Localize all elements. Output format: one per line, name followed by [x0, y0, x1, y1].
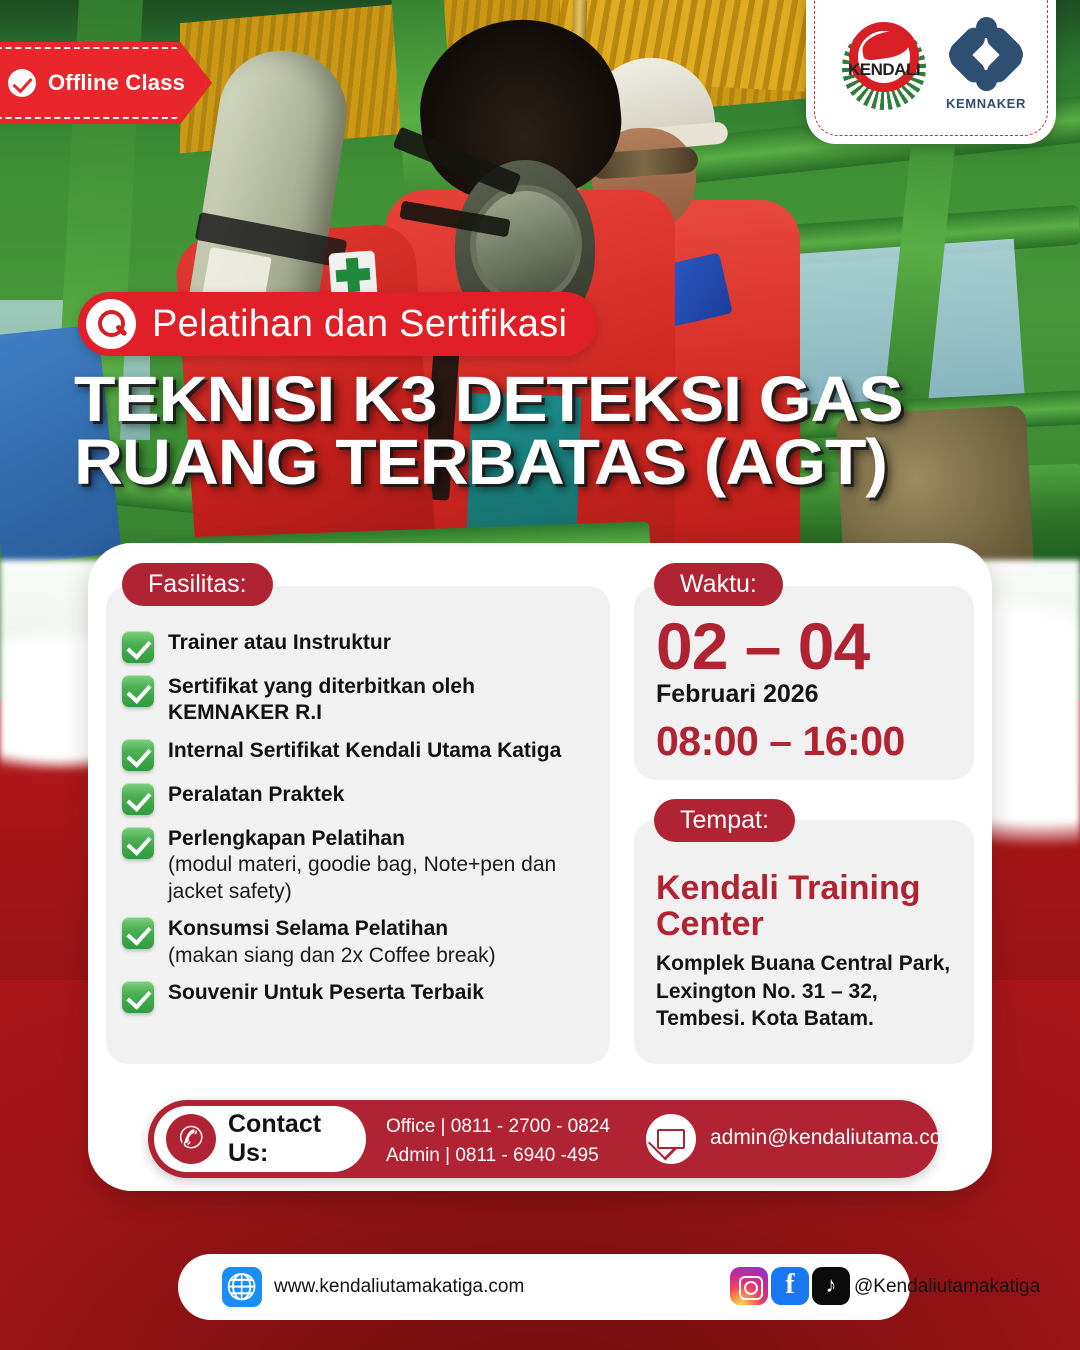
logo-card: KENDALI KEMNAKER	[806, 0, 1056, 144]
facility-item-text: Sertifikat yang diterbitkan oleh KEMNAKE…	[168, 674, 602, 727]
facility-item-text: Trainer atau Instruktur	[168, 630, 391, 656]
facility-item: Internal Sertifikat Kendali Utama Katiga	[122, 738, 602, 771]
tiktok-icon[interactable]	[812, 1267, 850, 1305]
facility-item-detail: (modul materi, goodie bag, Note+pen dan …	[168, 853, 556, 902]
kendali-logo: KENDALI	[836, 16, 932, 112]
envelope-icon	[646, 1114, 696, 1164]
facility-item-detail: (makan siang dan 2x Coffee break)	[168, 944, 496, 967]
venue-address: Komplek Buana Central Park, Lexington No…	[656, 950, 968, 1033]
facility-item: Peralatan Praktek	[122, 782, 602, 815]
checkbox-check-icon	[122, 827, 154, 859]
schedule-date-range: 02 – 04	[656, 608, 869, 684]
checkbox-check-icon	[122, 739, 154, 771]
checkbox-check-icon	[122, 631, 154, 663]
footer-bar: www.kendaliutamakatiga.com @Kendaliutama…	[178, 1254, 910, 1320]
social-icon-group	[730, 1267, 850, 1305]
checkbox-check-icon	[122, 675, 154, 707]
page-title: TEKNISI K3 DETEKSI GAS RUANG TERBATAS (A…	[74, 368, 1060, 493]
venue-badge: Tempat:	[654, 799, 795, 842]
facility-item-title: Internal Sertifikat Kendali Utama Katiga	[168, 739, 561, 762]
facebook-icon[interactable]	[771, 1267, 809, 1305]
facility-item-title: Souvenir Untuk Peserta Terbaik	[168, 981, 484, 1004]
schedule-time-range: 08:00 – 16:00	[656, 718, 905, 765]
scba-mask-lens	[470, 185, 582, 305]
contact-phone-numbers: Office | 0811 - 2700 - 0824 Admin | 0811…	[386, 1112, 610, 1171]
checkbox-check-icon	[122, 783, 154, 815]
facilities-list: Trainer atau InstrukturSertifikat yang d…	[122, 630, 602, 1024]
facility-item-title: Perlengkapan Pelatihan	[168, 827, 405, 850]
contact-bar: Contact Us: Office | 0811 - 2700 - 0824 …	[148, 1100, 938, 1178]
facility-item-title: Peralatan Praktek	[168, 783, 344, 806]
checkbox-check-icon	[122, 981, 154, 1013]
offline-class-badge: Offline Class	[0, 42, 212, 124]
facility-item-text: Internal Sertifikat Kendali Utama Katiga	[168, 738, 561, 764]
eyebrow-label: Pelatihan dan Sertifikasi	[152, 303, 567, 346]
instagram-icon[interactable]	[730, 1267, 768, 1305]
contact-us-pill: Contact Us:	[154, 1106, 366, 1172]
checkbox-check-icon	[122, 917, 154, 949]
facility-item-title: Sertifikat yang diterbitkan oleh KEMNAKE…	[168, 675, 475, 724]
kemnaker-mark-icon	[949, 17, 1023, 91]
kendali-wordmark: KENDALI	[841, 60, 927, 80]
search-icon	[86, 299, 136, 349]
schedule-month-year: Februari 2026	[656, 680, 819, 709]
kemnaker-label: KEMNAKER	[946, 96, 1026, 111]
contact-office-number[interactable]: Office | 0811 - 2700 - 0824	[386, 1112, 610, 1141]
kemnaker-logo: KEMNAKER	[946, 17, 1026, 111]
phone-icon	[166, 1114, 216, 1164]
facility-item-text: Souvenir Untuk Peserta Terbaik	[168, 980, 484, 1006]
facilities-badge: Fasilitas:	[122, 563, 273, 606]
contact-admin-number[interactable]: Admin | 0811 - 6940 -495	[386, 1141, 610, 1170]
contact-us-label: Contact Us:	[228, 1110, 366, 1168]
facility-item-title: Konsumsi Selama Pelatihan	[168, 917, 448, 940]
facility-item: Trainer atau Instruktur	[122, 630, 602, 663]
venue-name: Kendali Training Center	[656, 870, 956, 942]
facility-item-text: Konsumsi Selama Pelatihan(makan siang da…	[168, 916, 496, 969]
facility-item: Sertifikat yang diterbitkan oleh KEMNAKE…	[122, 674, 602, 727]
globe-icon	[222, 1267, 262, 1307]
facility-item: Souvenir Untuk Peserta Terbaik	[122, 980, 602, 1013]
facility-item: Perlengkapan Pelatihan(modul materi, goo…	[122, 826, 602, 905]
social-handle[interactable]: @Kendaliutamakatiga	[854, 1276, 1040, 1298]
facility-item-text: Peralatan Praktek	[168, 782, 344, 808]
facility-item-title: Trainer atau Instruktur	[168, 631, 391, 654]
website-url[interactable]: www.kendaliutamakatiga.com	[274, 1276, 524, 1298]
title-line-2: RUANG TERBATAS (AGT)	[74, 431, 1060, 494]
check-circle-icon	[8, 69, 36, 97]
schedule-badge: Waktu:	[654, 563, 783, 606]
envelope-glyph	[657, 1129, 685, 1149]
facility-item: Konsumsi Selama Pelatihan(makan siang da…	[122, 916, 602, 969]
training-eyebrow-pill: Pelatihan dan Sertifikasi	[78, 292, 597, 356]
title-line-1: TEKNISI K3 DETEKSI GAS	[74, 368, 1060, 431]
facility-item-text: Perlengkapan Pelatihan(modul materi, goo…	[168, 826, 602, 905]
offline-class-label: Offline Class	[48, 70, 185, 96]
contact-email[interactable]: admin@kendaliutama.com	[710, 1126, 959, 1150]
poster-root: Offline Class KENDALI KEMNAKER	[0, 0, 1080, 1350]
